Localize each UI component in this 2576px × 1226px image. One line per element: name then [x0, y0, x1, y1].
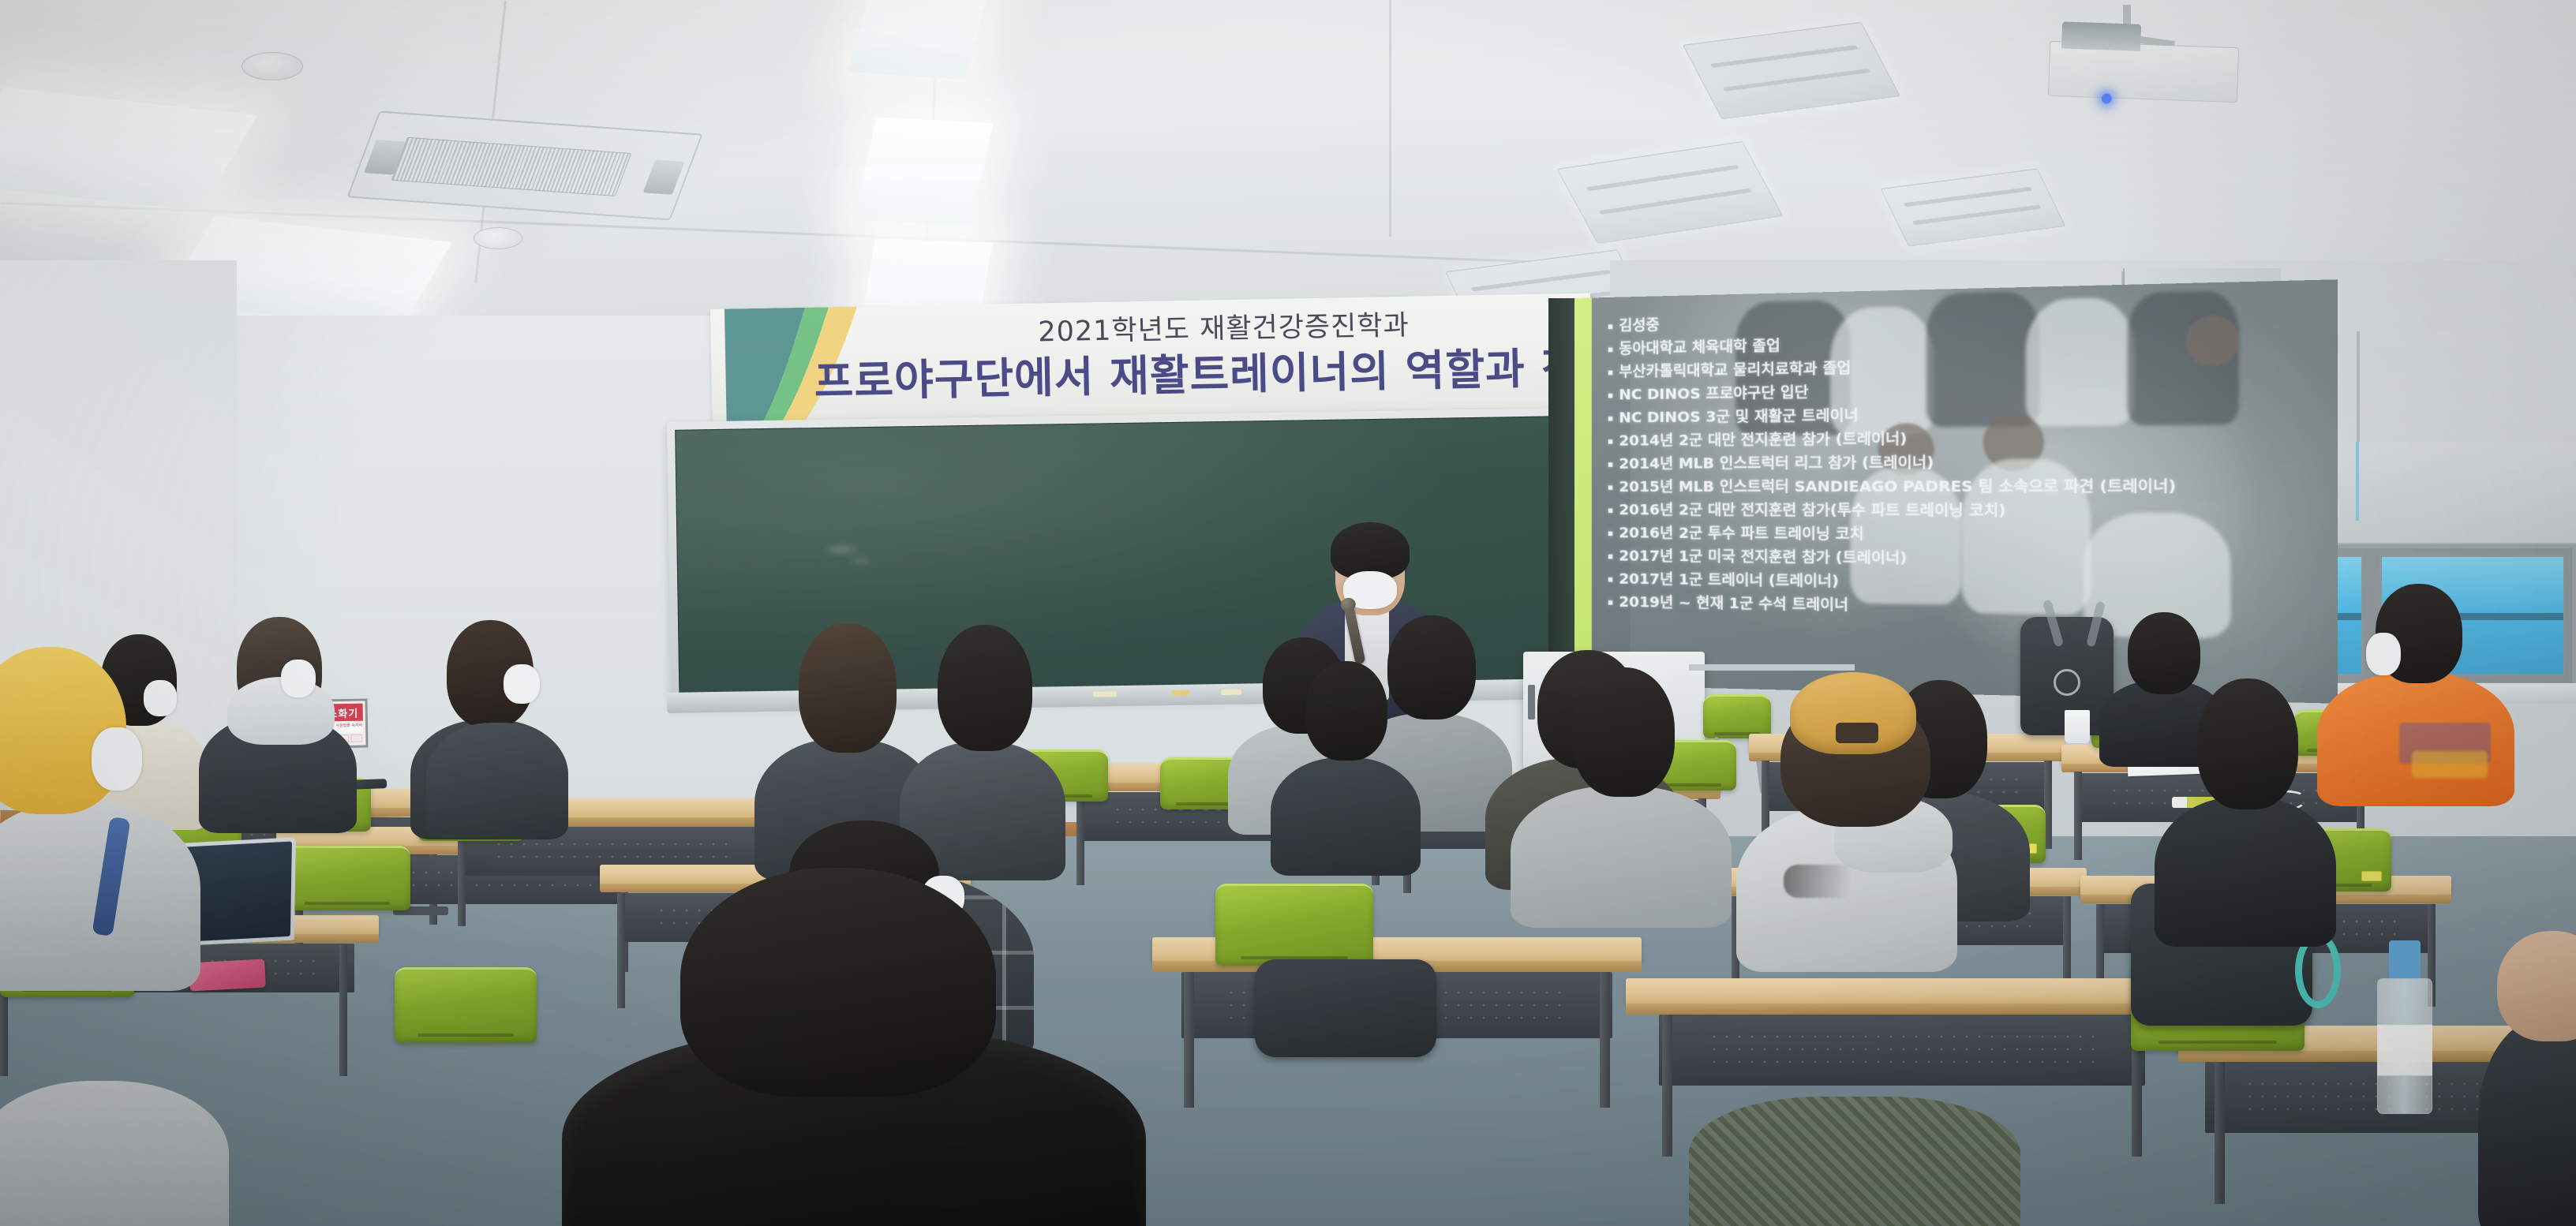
- face-mask: [92, 727, 142, 791]
- slide-accent-bar: [1574, 297, 1592, 685]
- student-orange-shirt: [2317, 584, 2514, 789]
- slide-bullet-list: 김성중 동아대학교 체육대학 졸업 부산카톨릭대학교 물리치료학과 졸업 NC …: [1608, 304, 2323, 630]
- backpack[interactable]: [1255, 959, 1436, 1057]
- student: [426, 625, 568, 814]
- slide-bullet: NC DINOS 3군 및 재활군 트레이너: [1608, 404, 2323, 426]
- bottle-cap: [2389, 940, 2420, 978]
- banner-title: 프로야구단에서 재활트레이너의 역할과 진로: [814, 332, 1593, 409]
- shirt-graphic: [2412, 751, 2488, 778]
- bottle-label: [2377, 1024, 2432, 1076]
- student-with-cap: [1736, 667, 1957, 928]
- chair[interactable]: [284, 846, 410, 910]
- student-blonde-hoodie: [0, 647, 200, 978]
- ceiling-projector: [2048, 41, 2239, 103]
- slide-bullet: 2015년 MLB 인스트럭터 SANDIEAGO PADRES 팀 소속으로 …: [1608, 480, 2323, 495]
- student: [2155, 678, 2336, 915]
- ceiling-speaker: [241, 52, 303, 80]
- slide-bullet: 2017년 1군 트레이너 (트레이너): [1608, 572, 2323, 596]
- lecture-hall-scene: 소화기 화재시 사용법을 숙지하세요 2021학년도 재활건강증진학과 프로야구…: [0, 0, 2576, 1226]
- paper-cup[interactable]: [2065, 710, 2090, 743]
- cap-strap-gap: [1836, 723, 1878, 743]
- blind-cord[interactable]: [2356, 442, 2359, 521]
- backpack-logo: [2054, 669, 2080, 696]
- chair-label-tag: [2361, 871, 2382, 881]
- slide-bullet: 2016년 2군 투수 파트 트레이닝 코치: [1608, 526, 2323, 545]
- slide-bullet: 2014년 MLB 인스트럭터 리그 참가 (트레이너): [1608, 454, 2323, 472]
- slide-bullet: 2017년 1군 미국 전지훈련 참가 (트레이너): [1608, 549, 2323, 570]
- ceiling-speaker: [474, 227, 522, 249]
- slide-bullet: 동아대학교 체육대학 졸업: [1608, 329, 2323, 357]
- hoodie-script: [1784, 865, 1878, 898]
- water-bottle[interactable]: [2377, 940, 2432, 1114]
- slide-bullet: 2016년 2군 대만 전지훈련 참가(투수 파트 트레이닝 코치): [1608, 503, 2323, 521]
- projector-lens: [2061, 21, 2141, 50]
- student: [1271, 658, 1421, 855]
- student: [1689, 1049, 2020, 1226]
- student: [199, 617, 357, 814]
- screen-left-edge: [1548, 298, 1577, 686]
- chair[interactable]: [1215, 884, 1373, 966]
- hair: [680, 868, 996, 1097]
- ceiling-light-panel: [853, 117, 994, 226]
- student: [900, 625, 1065, 854]
- slide-bullet: 부산카톨릭대학교 물리치료학과 졸업: [1608, 354, 2323, 380]
- student-black-fleece-foreground: [562, 868, 1146, 1226]
- student-grey-hoodie: [1511, 667, 1732, 904]
- chair[interactable]: [395, 967, 537, 1043]
- student: [2478, 931, 2576, 1226]
- slide-bullet: NC DINOS 프로야구단 입단: [1608, 379, 2323, 403]
- slide-bullet: 2014년 2군 대만 전지훈련 참가 (트레이너): [1608, 429, 2323, 449]
- event-banner: 2021학년도 재활건강증진학과 프로야구단에서 재활트레이너의 역할과 진로: [710, 293, 1593, 426]
- projector-power-led: [2101, 93, 2111, 103]
- student: [0, 1049, 229, 1226]
